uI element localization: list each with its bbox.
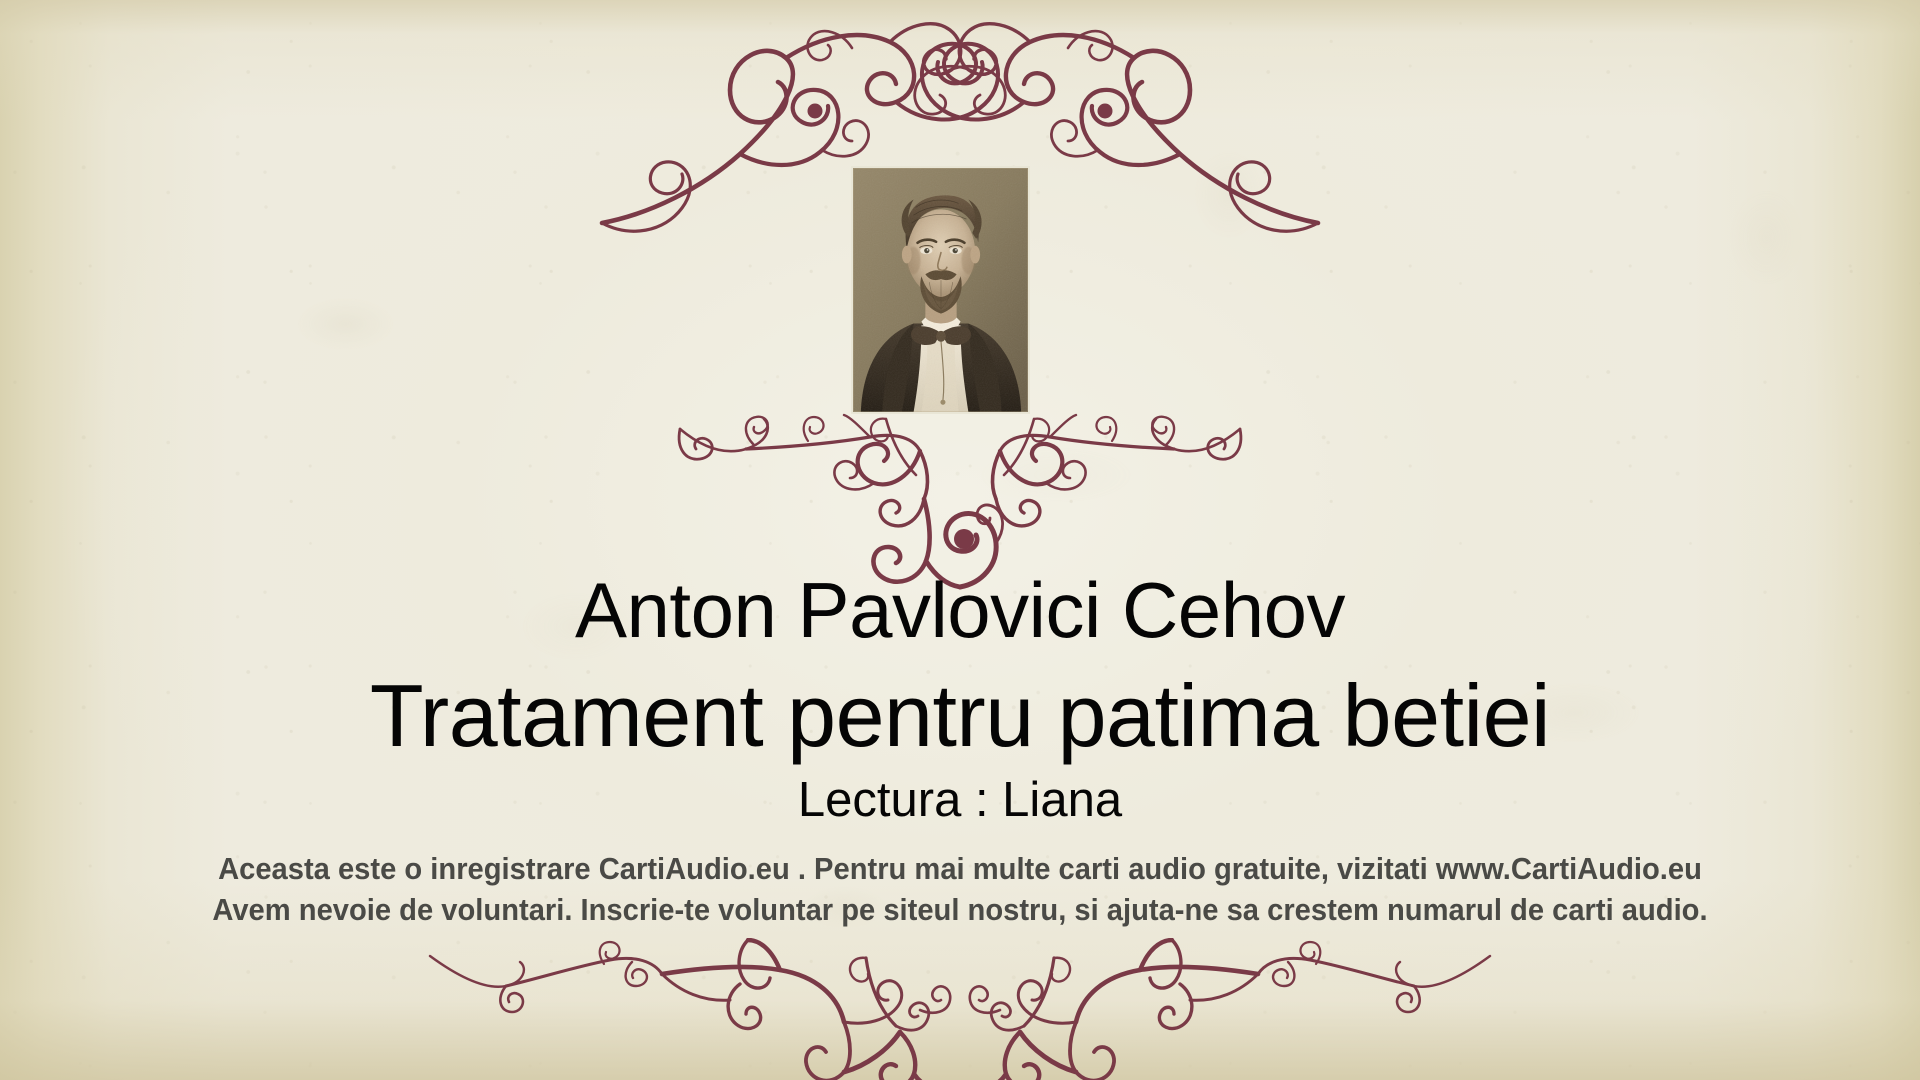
- author-portrait: [851, 166, 1030, 414]
- audiobook-title-slide: Anton Pavlovici Cehov Tratament pentru p…: [0, 0, 1920, 1080]
- reader-credit: Lectura : Liana: [0, 776, 1920, 825]
- recording-notice-line: Aceasta este o inregistrare CartiAudio.e…: [58, 853, 1863, 884]
- author-name: Anton Pavlovici Cehov: [0, 571, 1920, 649]
- volunteer-notice-line: Avem nevoie de voluntari. Inscrie-te vol…: [58, 894, 1863, 925]
- book-title: Tratament pentru patima betiei: [0, 672, 1920, 760]
